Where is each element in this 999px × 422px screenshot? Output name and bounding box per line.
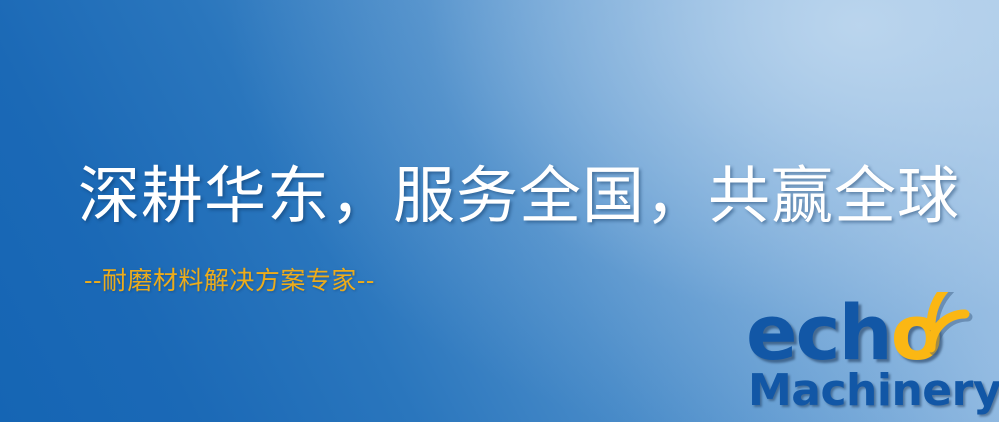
banner-headline: 深耕华东，服务全国，共赢全球 xyxy=(78,150,958,242)
company-logo[interactable]: echo Machinery® xyxy=(742,296,994,418)
signal-arcs-icon xyxy=(925,292,991,358)
logo-subword-wrapper: Machinery® xyxy=(748,368,999,414)
banner-subtitle: --耐磨材料解决方案专家-- xyxy=(84,264,375,298)
logo-wordmark: echo xyxy=(746,296,941,370)
logo-subword: Machinery xyxy=(748,365,999,416)
promo-banner: 深耕华东，服务全国，共赢全球 --耐磨材料解决方案专家-- echo Machi… xyxy=(0,0,999,422)
logo-wordmark-blue: ech xyxy=(746,288,891,377)
